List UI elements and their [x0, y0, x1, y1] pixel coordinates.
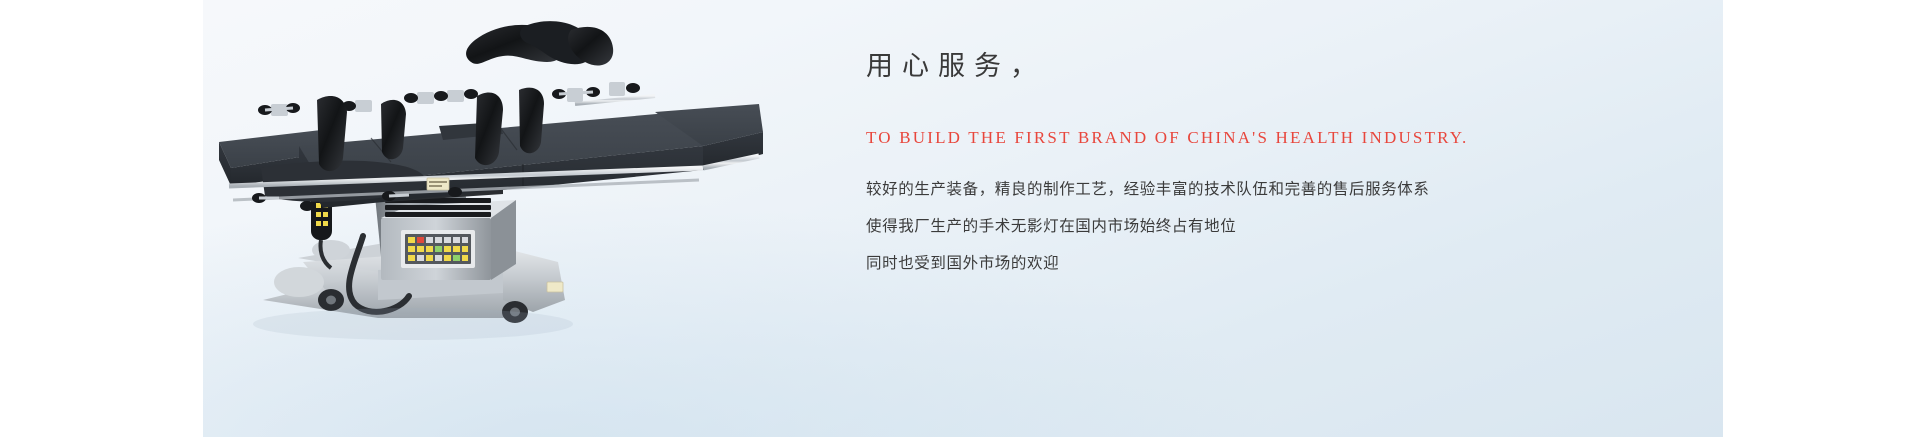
- table-column: [375, 188, 516, 280]
- warning-label: [427, 178, 449, 190]
- operating-table-image: [203, 0, 763, 437]
- control-panel-buttons: [408, 237, 468, 261]
- warning-label-2: [547, 282, 563, 292]
- tagline: TO BUILD THE FIRST BRAND OF CHINA'S HEAL…: [866, 127, 1666, 149]
- body-line-2: 使得我厂生产的手术无影灯在国内市场始终占有地位: [866, 208, 1666, 245]
- body-text: 较好的生产装备，精良的制作工艺，经验丰富的技术队伍和完善的售后服务体系 使得我厂…: [866, 171, 1666, 282]
- banner-page: 用心服务， TO BUILD THE FIRST BRAND OF CHINA'…: [0, 0, 1920, 437]
- banner-copy: 用心服务， TO BUILD THE FIRST BRAND OF CHINA'…: [866, 46, 1666, 282]
- body-line-1: 较好的生产装备，精良的制作工艺，经验丰富的技术队伍和完善的售后服务体系: [866, 171, 1666, 208]
- promo-banner: 用心服务， TO BUILD THE FIRST BRAND OF CHINA'…: [203, 0, 1723, 437]
- body-line-3: 同时也受到国外市场的欢迎: [866, 245, 1666, 282]
- headline: 用心服务，: [866, 46, 1666, 86]
